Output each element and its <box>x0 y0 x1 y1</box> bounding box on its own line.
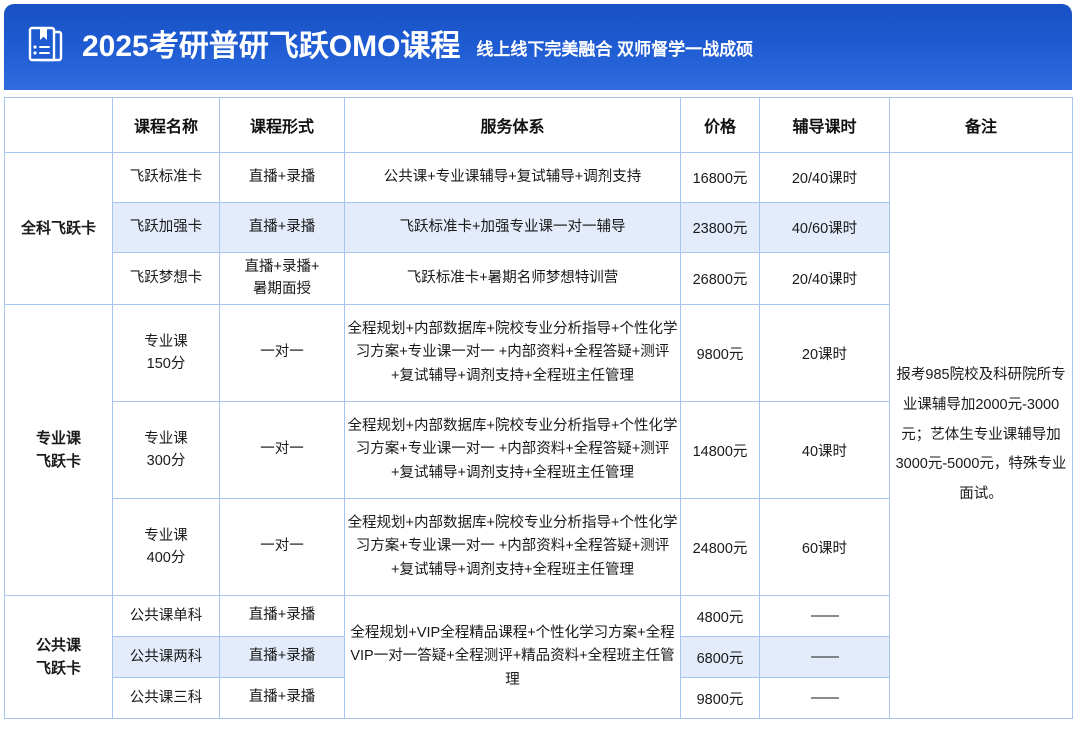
course-service-cell: 全程规划+内部数据库+院校专业分析指导+个性化学习方案+专业课一对一 +内部资料… <box>345 402 681 499</box>
table-header-row: 课程名称 课程形式 服务体系 价格 辅导课时 备注 <box>5 98 1073 153</box>
course-hours-cell: 40课时 <box>760 402 890 499</box>
book-document-icon <box>26 25 66 69</box>
course-form-cell: 一对一 <box>220 402 345 499</box>
course-form-cell: 直播+录播 <box>220 153 345 203</box>
course-name-cell: 专业课 400分 <box>113 499 220 596</box>
course-service-cell: 飞跃标准卡+暑期名师梦想特训营 <box>345 253 681 305</box>
course-name-cell: 公共课单科 <box>113 596 220 637</box>
banner-title: 2025考研普研飞跃OMO课程 <box>82 32 460 62</box>
course-hours-cell: —— <box>760 596 890 637</box>
course-price-cell: 16800元 <box>681 153 760 203</box>
course-service-cell: 全程规划+VIP全程精品课程+个性化学习方案+全程VIP一对一答疑+全程测评+精… <box>345 596 681 719</box>
course-form-cell: 直播+录播 <box>220 678 345 719</box>
group-label-cell: 专业课 飞跃卡 <box>5 305 113 596</box>
course-price-cell: 4800元 <box>681 596 760 637</box>
course-hours-cell: 20/40课时 <box>760 253 890 305</box>
course-table: 课程名称 课程形式 服务体系 价格 辅导课时 备注 全科飞跃卡 飞跃标准卡 直播… <box>4 97 1073 719</box>
course-service-cell: 公共课+专业课辅导+复试辅导+调剂支持 <box>345 153 681 203</box>
banner-subtitle: 线上线下完美融合 双师督学一战成硕 <box>476 41 753 58</box>
col-header-remark: 备注 <box>890 98 1073 153</box>
col-header-name: 课程名称 <box>113 98 220 153</box>
course-form-cell: 直播+录播 <box>220 203 345 253</box>
page-banner: 2025考研普研飞跃OMO课程 线上线下完美融合 双师督学一战成硕 <box>4 4 1072 90</box>
group-label-cell: 全科飞跃卡 <box>5 153 113 305</box>
col-header-form: 课程形式 <box>220 98 345 153</box>
remark-cell: 报考985院校及科研院所专业课辅导加2000元-3000元；艺体生专业课辅导加3… <box>890 153 1073 719</box>
course-price-cell: 9800元 <box>681 305 760 402</box>
course-table-container: 课程名称 课程形式 服务体系 价格 辅导课时 备注 全科飞跃卡 飞跃标准卡 直播… <box>4 97 1072 719</box>
course-form-cell: 直播+录播 <box>220 596 345 637</box>
course-price-cell: 14800元 <box>681 402 760 499</box>
course-price-cell: 23800元 <box>681 203 760 253</box>
course-service-cell: 全程规划+内部数据库+院校专业分析指导+个性化学习方案+专业课一对一 +内部资料… <box>345 305 681 402</box>
course-price-cell: 24800元 <box>681 499 760 596</box>
course-hours-cell: —— <box>760 637 890 678</box>
col-header-hours: 辅导课时 <box>760 98 890 153</box>
course-price-cell: 9800元 <box>681 678 760 719</box>
course-name-cell: 飞跃加强卡 <box>113 203 220 253</box>
course-pricing-page: 2025考研普研飞跃OMO课程 线上线下完美融合 双师督学一战成硕 课程名称 课… <box>0 0 1076 750</box>
course-form-cell: 一对一 <box>220 305 345 402</box>
col-header-service: 服务体系 <box>345 98 681 153</box>
course-hours-cell: 40/60课时 <box>760 203 890 253</box>
course-hours-cell: —— <box>760 678 890 719</box>
course-name-cell: 专业课 300分 <box>113 402 220 499</box>
course-hours-cell: 60课时 <box>760 499 890 596</box>
course-price-cell: 26800元 <box>681 253 760 305</box>
course-service-cell: 全程规划+内部数据库+院校专业分析指导+个性化学习方案+专业课一对一 +内部资料… <box>345 499 681 596</box>
course-name-cell: 专业课 150分 <box>113 305 220 402</box>
course-name-cell: 公共课三科 <box>113 678 220 719</box>
course-price-cell: 6800元 <box>681 637 760 678</box>
course-name-cell: 飞跃梦想卡 <box>113 253 220 305</box>
group-label-cell: 公共课 飞跃卡 <box>5 596 113 719</box>
col-header-group <box>5 98 113 153</box>
course-name-cell: 飞跃标准卡 <box>113 153 220 203</box>
course-form-cell: 直播+录播+ 暑期面授 <box>220 253 345 305</box>
col-header-price: 价格 <box>681 98 760 153</box>
course-service-cell: 飞跃标准卡+加强专业课一对一辅导 <box>345 203 681 253</box>
table-row: 全科飞跃卡 飞跃标准卡 直播+录播 公共课+专业课辅导+复试辅导+调剂支持 16… <box>5 153 1073 203</box>
course-form-cell: 直播+录播 <box>220 637 345 678</box>
course-name-cell: 公共课两科 <box>113 637 220 678</box>
course-form-cell: 一对一 <box>220 499 345 596</box>
course-hours-cell: 20/40课时 <box>760 153 890 203</box>
course-hours-cell: 20课时 <box>760 305 890 402</box>
